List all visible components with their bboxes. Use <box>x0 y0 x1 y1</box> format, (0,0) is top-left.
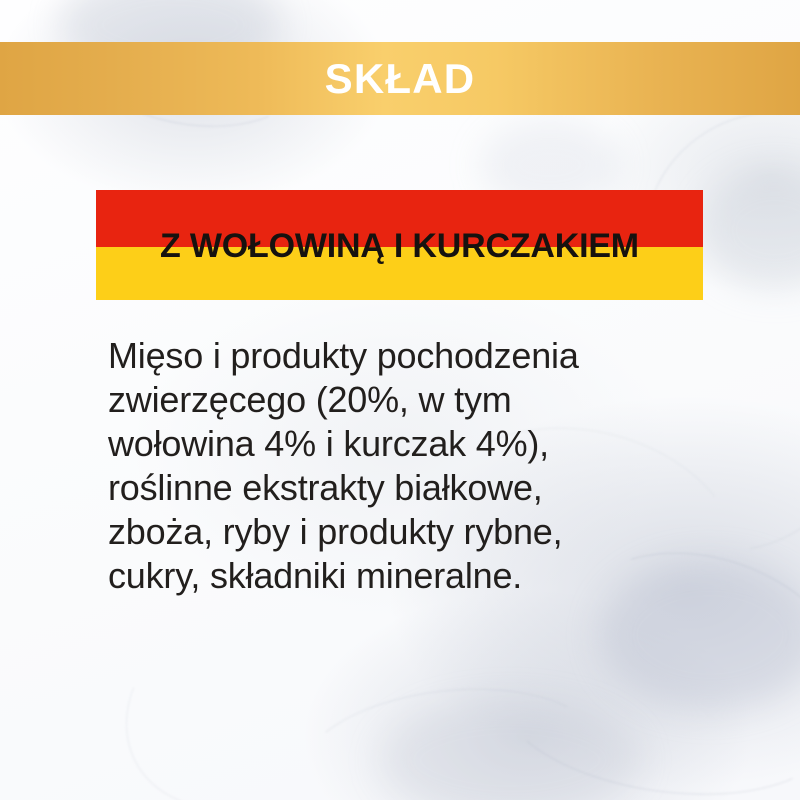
section-title: SKŁAD <box>325 58 476 100</box>
ingredients-line: Mięso i produkty pochodzenia <box>108 334 728 378</box>
product-ingredients-panel: SKŁAD Z WOŁOWINĄ I KURCZAKIEM Mięso i pr… <box>0 0 800 800</box>
variant-flag-block: Z WOŁOWINĄ I KURCZAKIEM <box>96 190 703 300</box>
ingredients-line: roślinne ekstrakty białkowe, <box>108 466 728 510</box>
ingredients-line: cukry, składniki mineralne. <box>108 554 728 598</box>
ingredients-text: Mięso i produkty pochodzenia zwierzęcego… <box>108 334 728 598</box>
ingredients-line: zwierzęcego (20%, w tym <box>108 378 728 422</box>
ingredients-line: zboża, ryby i produkty rybne, <box>108 510 728 554</box>
ingredients-line: wołowina 4% i kurczak 4%), <box>108 422 728 466</box>
variant-title: Z WOŁOWINĄ I KURCZAKIEM <box>96 190 703 300</box>
section-header-banner: SKŁAD <box>0 42 800 115</box>
